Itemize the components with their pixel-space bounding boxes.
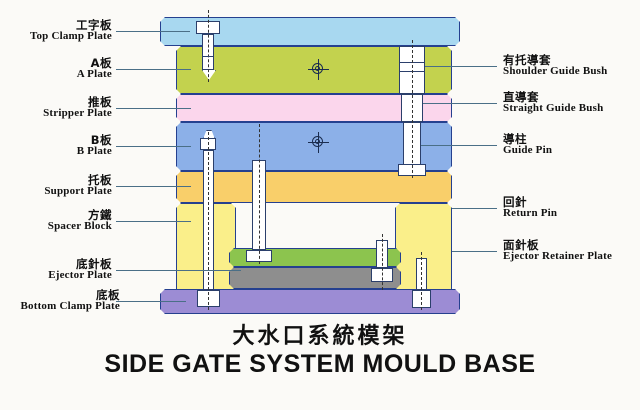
- label-b-plate: B板 B Plate: [0, 134, 112, 158]
- leader-return-pin: [452, 208, 497, 209]
- leader-spacer-block: [116, 221, 191, 222]
- label-bottom-clamp-plate-en: Bottom Clamp Plate: [0, 301, 120, 313]
- cap-screw-centerline: [208, 10, 209, 82]
- label-bottom-clamp-plate: 底板 Bottom Clamp Plate: [0, 289, 120, 313]
- label-b-plate-en: B Plate: [0, 146, 112, 158]
- cap-screw-thread-line: [202, 56, 214, 57]
- label-straight-guide-bush-en: Straight Guide Bush: [503, 103, 640, 115]
- label-top-clamp-plate-en: Top Clamp Plate: [0, 31, 112, 43]
- guide-pin-centerline: [412, 40, 413, 178]
- leader-guide-pin: [421, 145, 497, 146]
- label-ejector-retainer-plate-en: Ejector Retainer Plate: [503, 251, 640, 263]
- label-guide-pin: 導柱 Guide Pin: [503, 133, 640, 157]
- label-return-pin: 回針 Return Pin: [503, 196, 640, 220]
- leader-top-clamp-plate: [116, 31, 190, 32]
- page-title: 大水口系統模架 SIDE GATE SYSTEM MOULD BASE: [0, 318, 640, 379]
- leader-support-plate: [116, 186, 191, 187]
- label-support-plate: 托板 Support Plate: [0, 174, 112, 198]
- mould-base-diagram: 工字板 Top Clamp Plate A板 A Plate 推板 Stripp…: [0, 0, 640, 410]
- puller-bolt-centerline: [208, 132, 209, 310]
- label-a-plate-en: A Plate: [0, 69, 112, 81]
- ejector-sleeve-centerline: [259, 124, 260, 264]
- label-top-clamp-plate: 工字板 Top Clamp Plate: [0, 19, 112, 43]
- leader-a-plate: [116, 69, 191, 70]
- leader-ejector-retainer-plate: [452, 251, 497, 252]
- label-spacer-block-en: Spacer Block: [0, 221, 112, 233]
- label-ejector-plate: 底針板 Ejector Plate: [0, 258, 112, 282]
- label-support-plate-en: Support Plate: [0, 186, 112, 198]
- return-pin-centerline: [382, 234, 383, 290]
- label-a-plate: A板 A Plate: [0, 57, 112, 81]
- label-spacer-block: 方鐵 Spacer Block: [0, 209, 112, 233]
- bottom-clamp-screw-centerline: [421, 252, 422, 310]
- label-straight-guide-bush: 直導套 Straight Guide Bush: [503, 91, 640, 115]
- label-guide-pin-en: Guide Pin: [503, 145, 640, 157]
- leader-bottom-clamp-plate: [116, 301, 186, 302]
- label-stripper-plate-en: Stripper Plate: [0, 108, 112, 120]
- label-shoulder-guide-bush-en: Shoulder Guide Bush: [503, 66, 640, 78]
- page-title-en: SIDE GATE SYSTEM MOULD BASE: [0, 350, 640, 379]
- leader-straight-guide-bush: [423, 103, 497, 104]
- locating-ring-icon-a-plate: [310, 61, 327, 78]
- leader-ejector-plate: [116, 270, 241, 271]
- leader-stripper-plate: [116, 108, 191, 109]
- leader-shoulder-guide-bush: [425, 66, 497, 67]
- label-stripper-plate: 推板 Stripper Plate: [0, 96, 112, 120]
- label-ejector-retainer-plate: 面針板 Ejector Retainer Plate: [503, 239, 640, 263]
- label-shoulder-guide-bush: 有托導套 Shoulder Guide Bush: [503, 54, 640, 78]
- leader-b-plate: [116, 146, 191, 147]
- page-title-cn: 大水口系統模架: [0, 318, 640, 350]
- locating-ring-icon-b-plate: [310, 134, 327, 151]
- label-ejector-plate-en: Ejector Plate: [0, 270, 112, 282]
- label-return-pin-en: Return Pin: [503, 208, 640, 220]
